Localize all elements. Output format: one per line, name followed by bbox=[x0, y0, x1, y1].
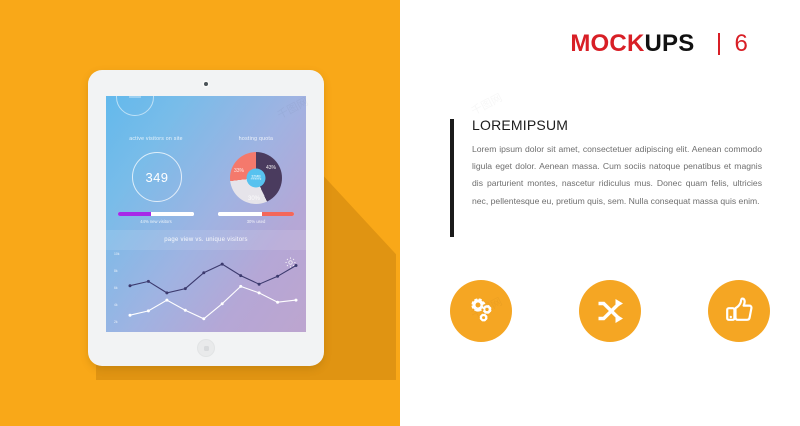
line-data-point bbox=[129, 314, 132, 317]
home-button[interactable] bbox=[197, 339, 215, 357]
right-content-panel: MOCKUPS 6 LOREMIPSUM Lorem ipsum dolor s… bbox=[400, 0, 800, 426]
line-data-point bbox=[295, 264, 298, 267]
line-data-point bbox=[202, 271, 205, 274]
pie-center-caption: remaining bbox=[251, 179, 262, 182]
hosting-progress-bar bbox=[218, 212, 294, 216]
y-tick-2k: 2k bbox=[114, 320, 119, 324]
line-data-point bbox=[276, 275, 279, 278]
active-visitors-ring: 349 bbox=[132, 152, 182, 202]
visitors-progress-bar bbox=[118, 212, 194, 216]
thumbs-up-icon-button[interactable] bbox=[708, 280, 770, 342]
pie-label-33: 33% bbox=[234, 168, 244, 174]
accent-rule bbox=[450, 119, 454, 237]
tablet-screen: active visitors on site hosting quota 34… bbox=[106, 96, 306, 332]
shuffle-icon bbox=[594, 295, 626, 327]
shuffle-icon-button[interactable] bbox=[579, 280, 641, 342]
line-data-point bbox=[165, 291, 168, 294]
active-visitors-value: 349 bbox=[146, 170, 169, 185]
line-data-point bbox=[184, 309, 187, 312]
page-number: 6 bbox=[734, 30, 748, 58]
page-view-line-chart: 10k 8k 6k 4k 2k bbox=[106, 250, 306, 332]
line-series bbox=[130, 286, 296, 318]
line-data-point bbox=[239, 274, 242, 277]
gears-icon bbox=[464, 294, 498, 328]
visitors-progress-group: 44% new visitors bbox=[106, 212, 206, 224]
gears-icon-button[interactable] bbox=[450, 280, 512, 342]
line-data-point bbox=[165, 299, 168, 302]
line-series bbox=[130, 264, 296, 293]
section-title: LOREMIPSUM bbox=[472, 117, 762, 133]
y-tick-6k: 6k bbox=[114, 286, 119, 290]
decorative-arc-icon bbox=[116, 96, 154, 116]
title-part-mock: MOCK bbox=[570, 30, 644, 58]
y-tick-8k: 8k bbox=[114, 269, 119, 273]
y-tick-4k: 4k bbox=[114, 303, 119, 307]
section-paragraph: Lorem ipsum dolor sit amet, consectetuer… bbox=[472, 141, 762, 210]
line-data-point bbox=[258, 291, 261, 294]
pie-center-badge: 32MB remaining bbox=[247, 169, 266, 188]
line-chart-title: page view vs. unique visitors bbox=[106, 230, 306, 250]
feature-icon-row bbox=[450, 280, 770, 342]
hosting-label: hosting quota bbox=[206, 136, 306, 142]
line-data-point bbox=[295, 299, 298, 302]
line-chart-plot bbox=[106, 250, 306, 332]
hosting-progress-group: 30% used bbox=[206, 212, 306, 224]
line-data-point bbox=[221, 302, 224, 305]
line-data-point bbox=[147, 280, 150, 283]
line-data-point bbox=[258, 283, 261, 286]
title-divider bbox=[718, 33, 720, 55]
pie-label-30: 30% bbox=[248, 196, 260, 202]
pie-label-43: 43% bbox=[266, 165, 276, 171]
visitors-label: active visitors on site bbox=[106, 136, 206, 142]
line-data-point bbox=[184, 287, 187, 290]
title-part-ups: UPS bbox=[644, 30, 694, 58]
line-data-point bbox=[147, 309, 150, 312]
line-data-point bbox=[221, 263, 224, 266]
hosting-quota-pie-chart: 43% 30% 33% 32MB remaining bbox=[230, 152, 282, 204]
line-data-point bbox=[129, 284, 132, 287]
dashboard-progress-bars: 44% new visitors 30% used bbox=[106, 212, 306, 224]
body-text-block: LOREMIPSUM Lorem ipsum dolor sit amet, c… bbox=[450, 117, 762, 210]
tablet-device: active visitors on site hosting quota 34… bbox=[88, 70, 324, 366]
hosting-progress-caption: 30% used bbox=[247, 219, 266, 224]
y-tick-10k: 10k bbox=[114, 252, 119, 256]
line-chart-y-axis: 10k 8k 6k 4k 2k bbox=[114, 252, 119, 324]
camera-icon bbox=[204, 82, 208, 86]
dashboard-panel-labels: active visitors on site hosting quota bbox=[106, 136, 306, 142]
thumbs-up-icon bbox=[723, 295, 755, 327]
line-data-point bbox=[202, 317, 205, 320]
visitors-progress-caption: 44% new visitors bbox=[140, 219, 171, 224]
page-title: MOCKUPS 6 bbox=[570, 30, 748, 58]
line-data-point bbox=[276, 301, 279, 304]
left-orange-panel: active visitors on site hosting quota 34… bbox=[0, 0, 400, 426]
line-data-point bbox=[239, 285, 242, 288]
